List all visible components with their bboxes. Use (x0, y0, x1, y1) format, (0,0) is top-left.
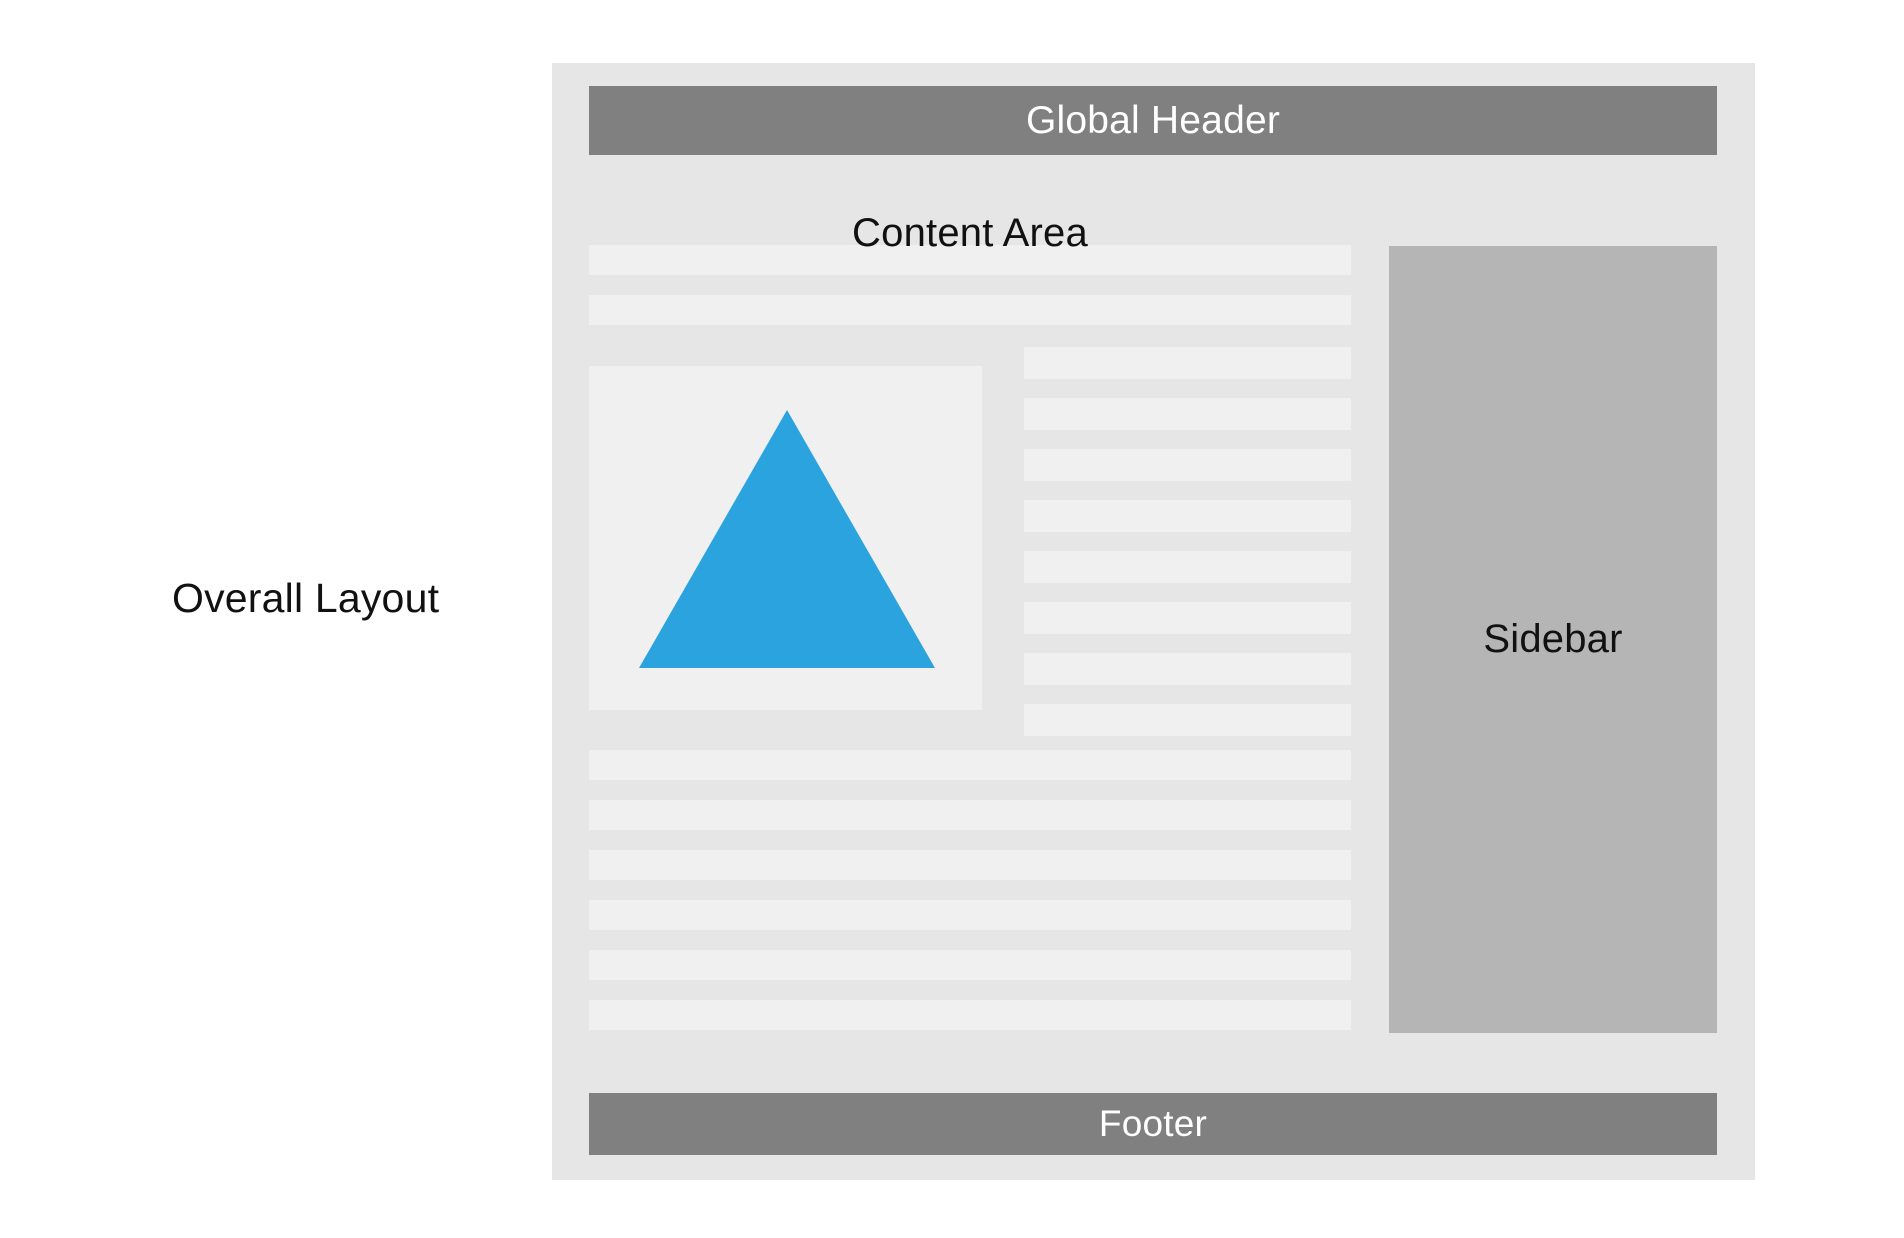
triangle-icon (639, 410, 935, 668)
content-skeleton-bar (589, 850, 1351, 880)
content-skeleton-bar (1024, 602, 1351, 634)
page-footer-label: Footer (1099, 1103, 1207, 1145)
body-region: Content Area Sidebar (552, 63, 1755, 1180)
content-skeleton-bar (1024, 398, 1351, 430)
content-skeleton-bar (1024, 551, 1351, 583)
content-skeleton-bar (1024, 704, 1351, 736)
content-skeleton-bar (589, 950, 1351, 980)
content-skeleton-bar (589, 1000, 1351, 1030)
content-skeleton-bar (1024, 449, 1351, 481)
content-skeleton-bar (589, 750, 1351, 780)
content-skeleton-bar (1024, 653, 1351, 685)
sidebar-label: Sidebar (1483, 617, 1622, 662)
content-skeleton-bar (589, 245, 1351, 275)
content-skeleton-bar (1024, 500, 1351, 532)
page-footer-bar[interactable]: Footer (589, 1093, 1717, 1155)
content-skeleton-bar (589, 900, 1351, 930)
content-skeleton-bar (589, 295, 1351, 325)
content-skeleton-bar (589, 800, 1351, 830)
page-frame: Global Header Content Area (552, 63, 1755, 1180)
image-placeholder[interactable] (589, 366, 982, 710)
content-skeleton-bar (1024, 347, 1351, 379)
sidebar-panel[interactable]: Sidebar (1389, 246, 1717, 1033)
overall-layout-caption: Overall Layout (172, 578, 439, 619)
